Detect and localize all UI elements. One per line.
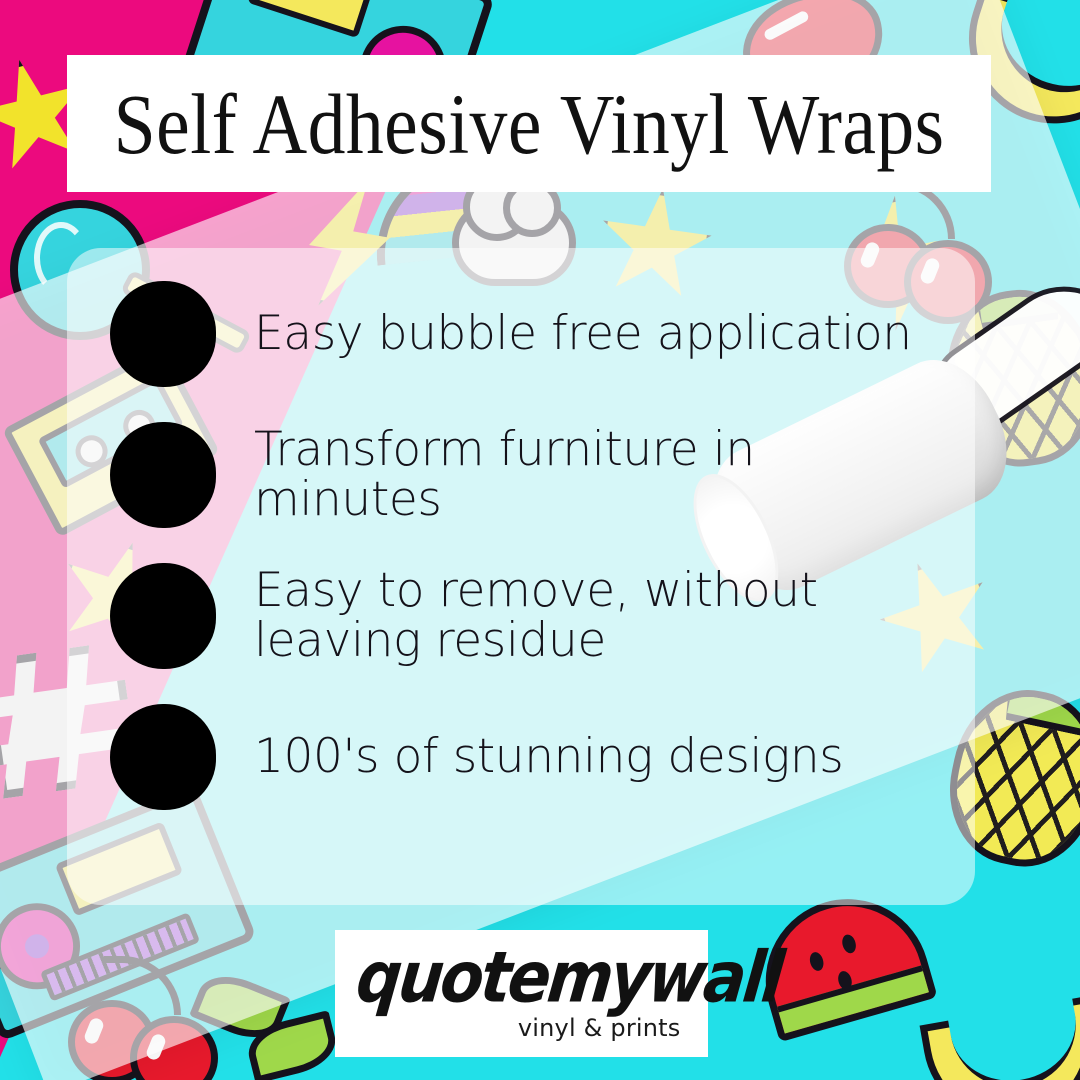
features-panel: Easy bubble free application Transform f… bbox=[67, 248, 975, 905]
logo-inner: quotemywall vinyl & prints bbox=[357, 942, 687, 1046]
list-item: 100's of stunning designs bbox=[110, 704, 945, 810]
logo-tagline: vinyl & prints bbox=[518, 1014, 681, 1042]
list-item: Easy to remove, without leaving residue bbox=[110, 563, 945, 669]
list-item: Easy bubble free application bbox=[110, 281, 945, 387]
bullet-dot-icon bbox=[110, 422, 216, 528]
logo-wordmark: quotemywall bbox=[353, 942, 784, 1013]
features-list: Easy bubble free application Transform f… bbox=[110, 281, 945, 810]
list-item: Transform furniture in minutes bbox=[110, 422, 945, 528]
page-title: Self Adhesive Vinyl Wraps bbox=[114, 81, 945, 167]
feature-label: 100's of stunning designs bbox=[254, 732, 843, 782]
bullet-dot-icon bbox=[110, 704, 216, 810]
feature-label: Transform furniture in minutes bbox=[254, 425, 945, 525]
bullet-dot-icon bbox=[110, 281, 216, 387]
feature-label: Easy bubble free application bbox=[254, 309, 912, 359]
title-band: Self Adhesive Vinyl Wraps bbox=[67, 55, 991, 192]
bullet-dot-icon bbox=[110, 563, 216, 669]
brand-logo: quotemywall vinyl & prints bbox=[335, 930, 708, 1057]
poster-canvas: Self Adhesive Vinyl Wraps Easy bubble fr… bbox=[0, 0, 1080, 1080]
feature-label: Easy to remove, without leaving residue bbox=[254, 566, 945, 666]
